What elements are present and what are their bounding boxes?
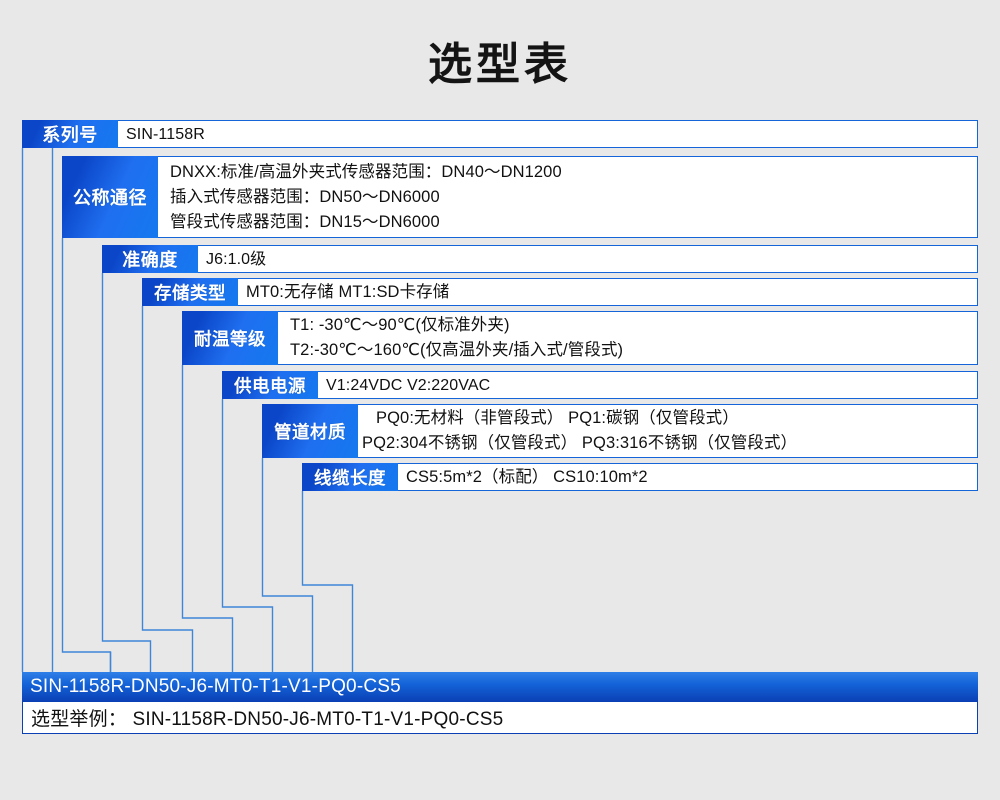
row-value-cable-length: CS5:5m*2（标配） CS10:10m*2: [398, 463, 978, 491]
row-value-series-no: SIN-1158R: [118, 120, 978, 148]
row-value-nominal-diameter: DNXX:标准/高温外夹式传感器范围：DN40〜DN1200 插入式传感器范围：…: [158, 156, 978, 238]
row-label-cable-length: 线缆长度: [302, 463, 398, 491]
value-line: J6:1.0级: [206, 247, 977, 272]
row-cable-length: 线缆长度 CS5:5m*2（标配） CS10:10m*2: [302, 463, 978, 491]
row-label-pipe-material: 管道材质: [262, 404, 358, 458]
row-series-no: 系列号 SIN-1158R: [22, 120, 978, 148]
row-value-accuracy: J6:1.0级: [198, 245, 978, 273]
row-label-series-no: 系列号: [22, 120, 118, 148]
value-line: 管段式传感器范围：DN15〜DN6000: [170, 210, 977, 235]
row-power-supply: 供电电源 V1:24VDC V2:220VAC: [222, 371, 978, 399]
row-label-temperature-rating: 耐温等级: [182, 311, 278, 365]
value-line: PQ2:304不锈钢（仅管段式） PQ3:316不锈钢（仅管段式）: [362, 431, 977, 456]
summary-example-row: 选型举例： SIN-1158R-DN50-J6-MT0-T1-V1-PQ0-CS…: [22, 702, 978, 734]
row-pipe-material: 管道材质 PQ0:无材料（非管段式） PQ1:碳钢（仅管段式） PQ2:304不…: [262, 404, 978, 458]
value-line: SIN-1158R: [126, 122, 977, 147]
value-line: T1: -30℃〜90℃(仅标准外夹): [290, 313, 977, 338]
row-label-nominal-diameter: 公称通径: [62, 156, 158, 238]
value-line: 插入式传感器范围：DN50〜DN6000: [170, 185, 977, 210]
row-label-accuracy: 准确度: [102, 245, 198, 273]
value-line: T2:-30℃〜160℃(仅高温外夹/插入式/管段式): [290, 338, 977, 363]
selection-table-page: 选型表 系列号 SIN-1158R: [0, 0, 1000, 800]
row-label-power-supply: 供电电源: [222, 371, 318, 399]
row-value-temperature-rating: T1: -30℃〜90℃(仅标准外夹) T2:-30℃〜160℃(仅高温外夹/插…: [278, 311, 978, 365]
value-line: MT0:无存储 MT1:SD卡存储: [246, 280, 977, 305]
value-line: CS5:5m*2（标配） CS10:10m*2: [406, 465, 977, 490]
value-line: V1:24VDC V2:220VAC: [326, 373, 977, 398]
page-title: 选型表: [0, 28, 1000, 92]
row-temperature-rating: 耐温等级 T1: -30℃〜90℃(仅标准外夹) T2:-30℃〜160℃(仅高…: [182, 311, 978, 365]
row-label-storage-type: 存储类型: [142, 278, 238, 306]
value-line: DNXX:标准/高温外夹式传感器范围：DN40〜DN1200: [170, 160, 977, 185]
row-value-storage-type: MT0:无存储 MT1:SD卡存储: [238, 278, 978, 306]
summary-block: SIN-1158R-DN50-J6-MT0-T1-V1-PQ0-CS5 选型举例…: [22, 672, 978, 734]
row-value-power-supply: V1:24VDC V2:220VAC: [318, 371, 978, 399]
row-value-pipe-material: PQ0:无材料（非管段式） PQ1:碳钢（仅管段式） PQ2:304不锈钢（仅管…: [358, 404, 978, 458]
row-storage-type: 存储类型 MT0:无存储 MT1:SD卡存储: [142, 278, 978, 306]
row-nominal-diameter: 公称通径 DNXX:标准/高温外夹式传感器范围：DN40〜DN1200 插入式传…: [62, 156, 978, 238]
summary-code-bar: SIN-1158R-DN50-J6-MT0-T1-V1-PQ0-CS5: [22, 672, 978, 702]
value-line: PQ0:无材料（非管段式） PQ1:碳钢（仅管段式）: [362, 406, 977, 431]
row-accuracy: 准确度 J6:1.0级: [102, 245, 978, 273]
